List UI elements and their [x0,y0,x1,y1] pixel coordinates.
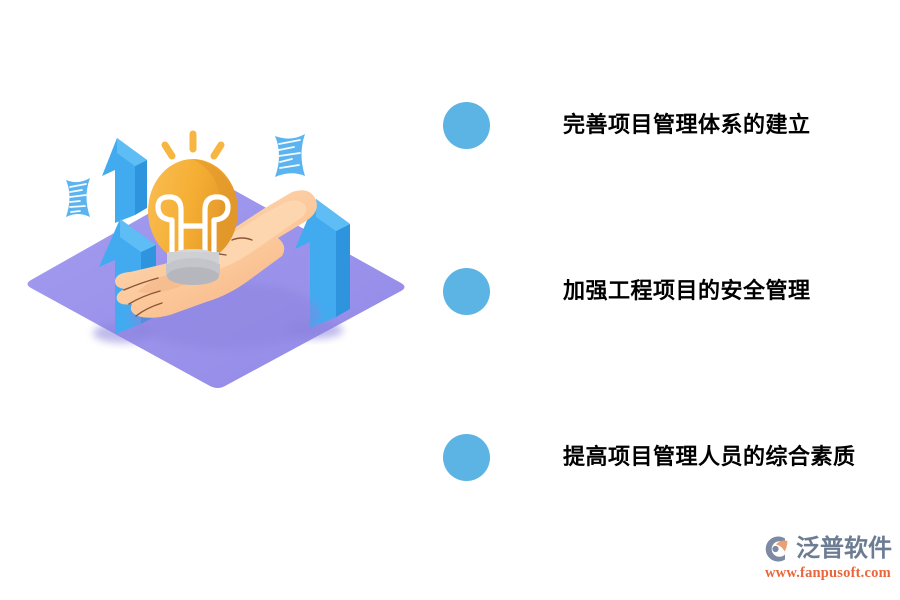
arrow-up-back-icon [102,138,147,223]
lightbulb-base [166,249,220,285]
bullet-dot-icon [443,102,490,149]
list-item[interactable]: 加强工程项目的安全管理 [443,266,811,316]
bullet-list: 完善项目管理体系的建立 加强工程项目的安全管理 提高项目管理人员的综合素质 [443,85,883,505]
illustration-svg [20,120,420,410]
bullet-dot-icon [443,268,490,315]
logo-website-url: www.fanpusoft.com [765,566,891,581]
brand-logo[interactable]: 泛普软件 www.fanpusoft.com [763,533,895,585]
fanpu-logo-mark-icon [763,534,793,564]
bullet-label: 提高项目管理人员的综合素质 [563,446,856,468]
page-root: 完善项目管理体系的建立 加强工程项目的安全管理 提高项目管理人员的综合素质 泛普… [0,0,900,600]
bullet-label: 加强工程项目的安全管理 [563,280,811,302]
logo-top-row: 泛普软件 [763,533,892,565]
document-sheet-right-icon [275,134,305,177]
list-item[interactable]: 提高项目管理人员的综合素质 [443,432,856,482]
list-item[interactable]: 完善项目管理体系的建立 [443,100,811,150]
hand-holding-lightbulb-illustration [20,120,420,410]
document-sheet-left-icon [66,178,90,217]
sparkle-rays-icon [165,134,221,156]
bullet-dot-icon [443,434,490,481]
bullet-label: 完善项目管理体系的建立 [563,114,811,136]
logo-company-name: 泛普软件 [796,537,892,561]
